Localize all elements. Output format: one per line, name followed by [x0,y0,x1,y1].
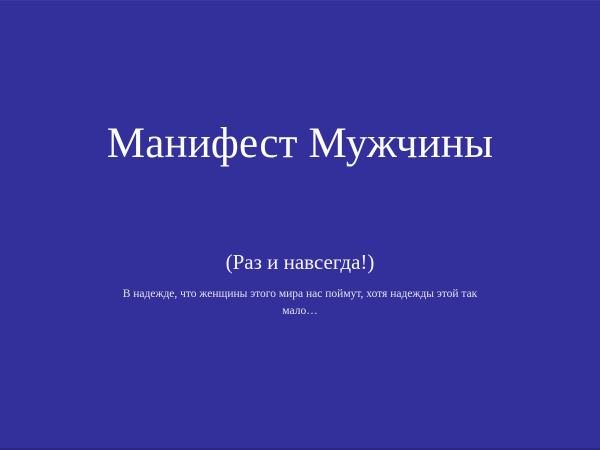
body-note-line-2: мало… [60,303,540,320]
slide-body-note: В надежде, что женщины этого мира нас по… [60,286,540,320]
body-note-line-1: В надежде, что женщины этого мира нас по… [60,286,540,303]
slide-title: Манифест Мужчины [0,118,600,170]
presentation-slide: Манифест Мужчины (Раз и навсегда!) В над… [0,0,600,450]
slide-top-edge [0,0,600,1]
slide-subtitle: (Раз и навсегда!) [0,249,600,275]
